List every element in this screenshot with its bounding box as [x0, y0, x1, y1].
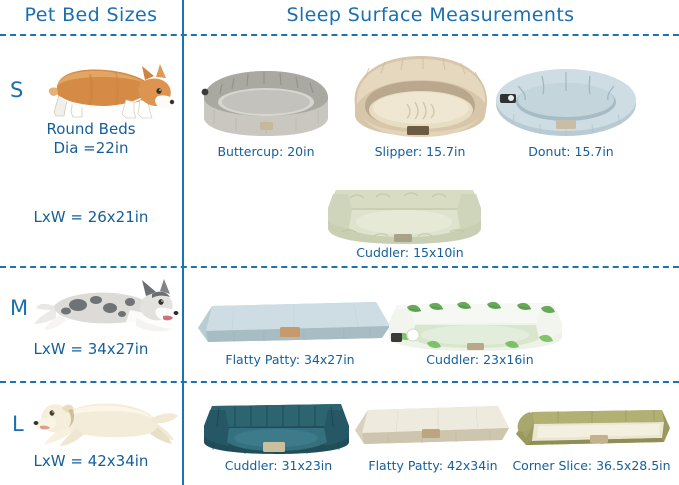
dim-line-l-1: LxW = 42x34in: [0, 452, 182, 470]
bed-label-corner-slice: Corner Slice: 36.5x28.5in: [504, 458, 679, 473]
dog-illustration-corgi: [30, 60, 175, 122]
dog-illustration-labrador: [32, 392, 180, 450]
bed-label-flatty-patty-medium: Flatty Patty: 34x27in: [190, 352, 390, 367]
bed-label-cuddler-small: Cuddler: 15x10in: [320, 245, 500, 260]
bed-label-cuddler-medium: Cuddler: 23x16in: [390, 352, 570, 367]
size-letter-l: L: [12, 412, 24, 436]
dog-illustration-australian-shepherd: [30, 278, 180, 338]
bed-image-slipper: [345, 50, 495, 142]
dim-line-s-2: Dia =22in: [0, 139, 182, 157]
size-letter-s: S: [10, 78, 23, 102]
divider-vertical: [182, 0, 184, 485]
bed-label-buttercup: Buttercup: 20in: [186, 144, 346, 159]
left-column-header: Pet Bed Sizes: [0, 4, 182, 26]
dim-line-s-3: LxW = 26x21in: [0, 208, 182, 226]
divider-small-medium: [0, 266, 679, 268]
bed-image-cuddler-large: [199, 396, 354, 456]
bed-image-buttercup: [196, 58, 336, 138]
divider-header: [0, 34, 679, 36]
bed-image-flatty-patty-large: [352, 404, 512, 452]
bed-image-corner-slice: [512, 398, 674, 454]
bed-image-donut: [494, 62, 639, 138]
bed-image-flatty-patty-medium: [194, 298, 394, 350]
pet-bed-size-chart: Pet Bed Sizes Sleep Surface Measurements…: [0, 0, 679, 485]
bed-image-cuddler-small: [322, 168, 487, 248]
size-letter-m: M: [10, 296, 28, 320]
bed-label-donut: Donut: 15.7in: [496, 144, 646, 159]
bed-image-cuddler-medium: [383, 291, 568, 353]
dim-line-m-1: LxW = 34x27in: [0, 340, 182, 358]
right-column-header: Sleep Surface Measurements: [182, 4, 679, 26]
bed-label-flatty-patty-large: Flatty Patty: 42x34in: [348, 458, 518, 473]
dim-line-s-1: Round Beds: [0, 120, 182, 138]
bed-label-slipper: Slipper: 15.7in: [340, 144, 500, 159]
bed-label-cuddler-large: Cuddler: 31x23in: [196, 458, 361, 473]
divider-medium-large: [0, 381, 679, 383]
